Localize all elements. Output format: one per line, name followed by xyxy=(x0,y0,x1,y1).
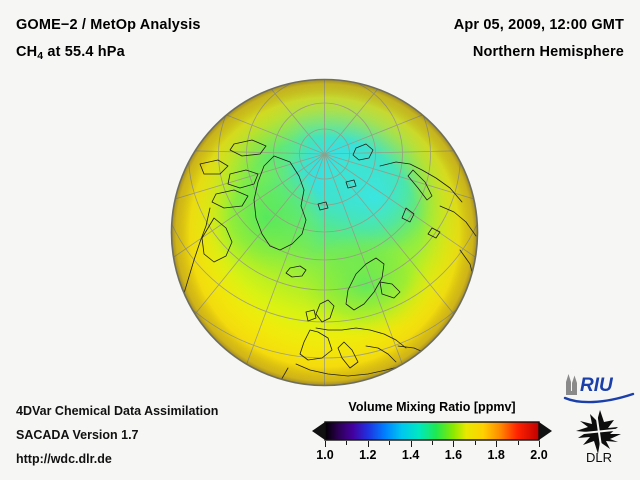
colorbar-svg xyxy=(312,421,552,441)
page-title: GOME−2 / MetOp Analysis xyxy=(16,17,201,33)
visualization-page: GOME−2 / MetOp Analysis CH4 at 55.4 hPa … xyxy=(0,0,640,480)
colorbar-tick-minor xyxy=(346,441,347,445)
colorbar-tick-label: 1.6 xyxy=(445,448,462,462)
cathedral-towers-icon xyxy=(566,374,577,395)
riu-logo-svg: RIU xyxy=(563,371,635,405)
hemisphere-label: Northern Hemisphere xyxy=(473,44,624,60)
version-label: SACADA Version 1.7 xyxy=(16,428,139,442)
colorbar-tick-major xyxy=(411,441,412,447)
colorbar-tick-label: 1.4 xyxy=(402,448,419,462)
colorbar-tick-label: 2.0 xyxy=(530,448,547,462)
riu-wordmark: RIU xyxy=(580,375,614,396)
coastline-caspian-region xyxy=(438,354,472,378)
colorbar-over-arrow xyxy=(539,422,552,440)
riu-logo: RIU xyxy=(563,371,635,405)
colorbar-tick-minor xyxy=(475,441,476,445)
colorbar-under-arrow xyxy=(312,422,325,440)
colorbar-bar xyxy=(312,421,552,441)
colorbar-tick-label: 1.2 xyxy=(359,448,376,462)
colorbar-tick-minor xyxy=(432,441,433,445)
limb-shading xyxy=(172,80,478,386)
colorbar-tick-major xyxy=(539,441,540,447)
colorbar-title: Volume Mixing Ratio [ppmv] xyxy=(312,400,552,414)
dlr-logo-svg: DLR xyxy=(566,408,632,464)
colorbar-gradient xyxy=(325,422,539,440)
species-level-label: CH4 at 55.4 hPa xyxy=(16,44,125,60)
colorbar-tick-major xyxy=(368,441,369,447)
colorbar-tick-minor xyxy=(518,441,519,445)
colorbar-tick-minor xyxy=(389,441,390,445)
dlr-logo: DLR xyxy=(566,408,632,464)
coastline-arabia xyxy=(416,366,448,387)
coastline-alaska xyxy=(170,178,176,196)
species-level-suffix: at 55.4 hPa xyxy=(43,44,125,60)
website-url[interactable]: http://wdc.dlr.de xyxy=(16,452,112,466)
colorbar-tick-major xyxy=(496,441,497,447)
colorbar-tick-label: 1.0 xyxy=(316,448,333,462)
colorbar-tick-labels: 1.01.21.41.61.82.0 xyxy=(312,448,552,466)
globe-map xyxy=(170,78,479,387)
species-formula-prefix: CH xyxy=(16,44,37,60)
colorbar-ticks xyxy=(312,441,552,448)
species-formula-subscript: 4 xyxy=(37,50,43,62)
colorbar: Volume Mixing Ratio [ppmv] xyxy=(312,400,552,472)
datetime-label: Apr 05, 2009, 12:00 GMT xyxy=(454,17,624,33)
colorbar-tick-major xyxy=(453,441,454,447)
colorbar-tick-label: 1.8 xyxy=(487,448,504,462)
dlr-wordmark: DLR xyxy=(586,450,612,464)
orthographic-projection-svg xyxy=(170,78,479,387)
method-label: 4DVar Chemical Data Assimilation xyxy=(16,404,218,418)
colorbar-tick-major xyxy=(325,441,326,447)
